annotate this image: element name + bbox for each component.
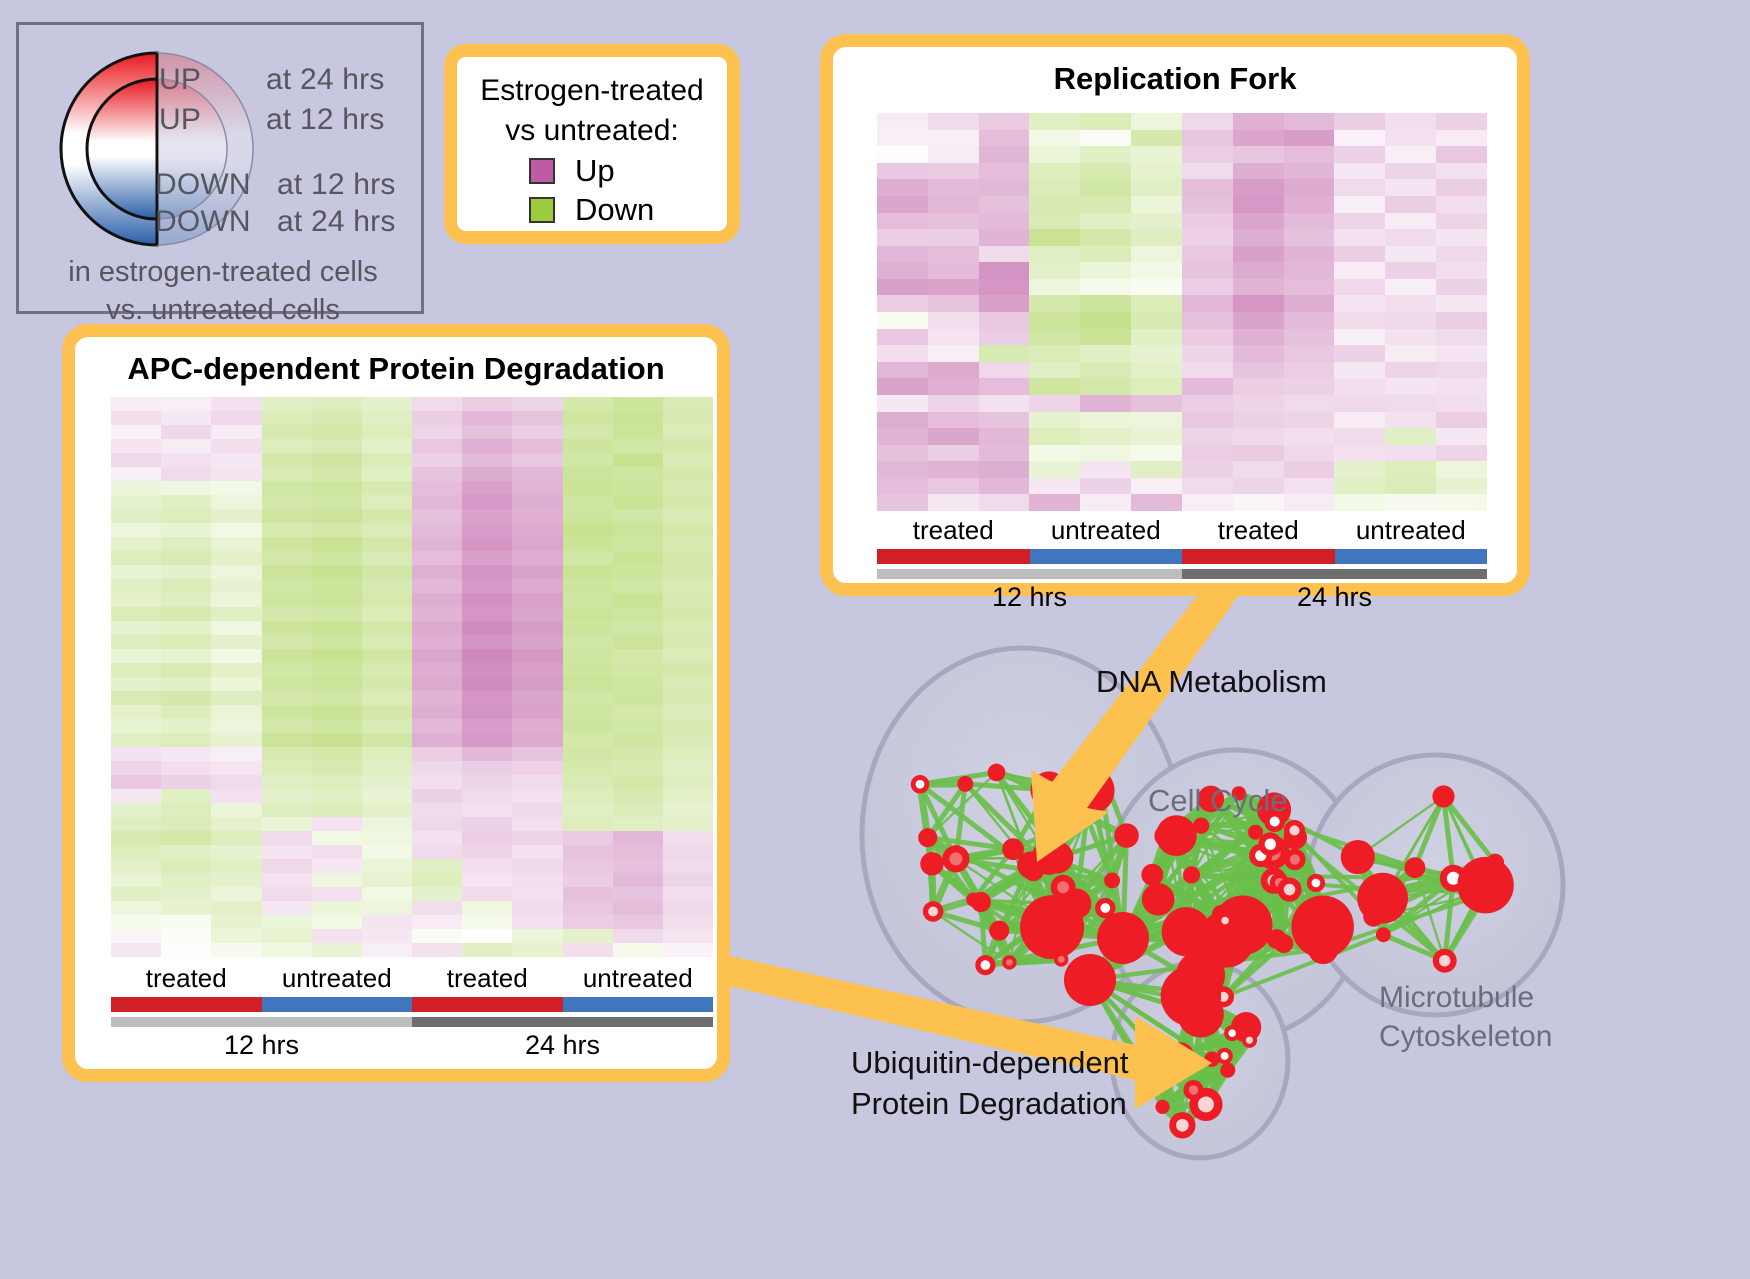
heatmap-cell: [979, 461, 1030, 478]
heatmap-cell: [211, 859, 261, 873]
heatmap-cell: [211, 929, 261, 943]
heatmap-cell: [512, 705, 562, 719]
heatmap-cell: [1182, 229, 1233, 246]
heatmap-cell: [412, 803, 462, 817]
network-node-core: [1176, 1119, 1189, 1132]
heatmap-cell: [412, 411, 462, 425]
heatmap-cell: [312, 649, 362, 663]
heatmap-cell: [1182, 146, 1233, 163]
cluster-label-microtubule-line1: Microtubule: [1379, 978, 1552, 1017]
network-node[interactable]: [1457, 857, 1514, 914]
heatmap-cell: [111, 761, 161, 775]
heatmap-cell: [563, 845, 613, 859]
heatmap-cell: [1284, 412, 1335, 429]
heatmap-cell: [111, 817, 161, 831]
heatmap-cell: [111, 705, 161, 719]
heatmap-cell: [1182, 279, 1233, 296]
network-node-core: [1312, 879, 1321, 888]
heatmap-cell: [161, 425, 211, 439]
heatmap-cell: [877, 412, 928, 429]
heatmap-cell: [111, 621, 161, 635]
heatmap-cell: [1385, 494, 1436, 511]
heatmap-cell: [512, 817, 562, 831]
heatmap-cell: [1131, 146, 1182, 163]
heatmap-cell: [1029, 229, 1080, 246]
heatmap-cell: [211, 845, 261, 859]
heatmap-cell: [1182, 395, 1233, 412]
heatmap-cell: [462, 565, 512, 579]
heatmap-cell: [1284, 196, 1335, 213]
heatmap-cell: [161, 495, 211, 509]
heatmap-cell: [1080, 428, 1131, 445]
heatmap-cell: [211, 943, 261, 957]
heatmap-cell: [362, 635, 412, 649]
heatmap-cell: [1334, 329, 1385, 346]
heatmap-cell: [1182, 494, 1233, 511]
heatmap-cell: [1029, 279, 1080, 296]
heatmap-cell: [1233, 494, 1284, 511]
heatmap-cell: [1284, 345, 1335, 362]
network-node[interactable]: [1183, 866, 1200, 883]
heatmap-cell: [1029, 312, 1080, 329]
heatmap-cell: [1233, 229, 1284, 246]
heatmap-cell: [111, 551, 161, 565]
heatmap-cell: [161, 915, 211, 929]
heatmap-cell: [1436, 428, 1487, 445]
heatmap-cell: [462, 887, 512, 901]
wheel-label-up-24: UP: [159, 63, 201, 97]
heatmap-cell: [928, 262, 979, 279]
heatmap-cell: [663, 593, 713, 607]
axis-group-label: untreated: [563, 963, 714, 994]
network-node[interactable]: [1153, 1060, 1174, 1081]
network-node[interactable]: [1220, 1063, 1235, 1078]
heatmap-cell: [1385, 163, 1436, 180]
network-node[interactable]: [1357, 873, 1408, 924]
heatmap-cell: [928, 246, 979, 263]
heatmap-cell: [928, 312, 979, 329]
axis-time-label: 12 hrs: [877, 582, 1182, 613]
network-node[interactable]: [1064, 954, 1116, 1006]
heatmap-cell: [161, 831, 211, 845]
heatmap-cell: [312, 523, 362, 537]
heatmap-cell: [1385, 113, 1436, 130]
heatmap-cell: [1334, 179, 1385, 196]
heatmap-cell: [1284, 312, 1335, 329]
axis-group-label: untreated: [1030, 515, 1183, 546]
heatmap-cell: [512, 453, 562, 467]
heatmap-cell: [613, 845, 663, 859]
heatmap-cell: [1334, 229, 1385, 246]
heatmap-cell: [412, 509, 462, 523]
heatmap-cell: [412, 929, 462, 943]
heatmap-cell: [111, 425, 161, 439]
heatmap-cell: [1233, 213, 1284, 230]
heatmap-cell: [1334, 295, 1385, 312]
wheel-label-down-24: DOWN: [155, 205, 251, 239]
heatmap-cell: [161, 537, 211, 551]
heatmap-cell: [1182, 378, 1233, 395]
heatmap-cell: [111, 593, 161, 607]
heatmap-cell: [877, 295, 928, 312]
network-node-core: [916, 780, 925, 789]
heatmap-cell: [663, 733, 713, 747]
heatmap-cell: [412, 439, 462, 453]
heatmap-cell: [928, 494, 979, 511]
heatmap-cell: [312, 691, 362, 705]
heatmap-cell: [877, 312, 928, 329]
heatmap-cell: [362, 691, 412, 705]
network-node[interactable]: [988, 764, 1006, 782]
network-node[interactable]: [1168, 1042, 1194, 1068]
network-node[interactable]: [971, 892, 991, 912]
network-node[interactable]: [1104, 872, 1120, 888]
heatmap-cell: [979, 229, 1030, 246]
heatmap-cell: [1029, 196, 1080, 213]
network-node[interactable]: [1141, 864, 1163, 886]
heatmap-cell: [613, 565, 663, 579]
heatmap-cell: [613, 691, 663, 705]
heatmap-cell: [928, 395, 979, 412]
heatmap-cell: [1131, 478, 1182, 495]
heatmap-cell: [1385, 478, 1436, 495]
heatmap-cell: [462, 439, 512, 453]
heatmap-cell: [312, 495, 362, 509]
heatmap-cell: [111, 901, 161, 915]
network-node[interactable]: [1291, 895, 1354, 958]
heatmap-cell: [161, 761, 211, 775]
network-node[interactable]: [1155, 1100, 1169, 1114]
heatmap-cell: [877, 262, 928, 279]
heatmap-cell: [111, 873, 161, 887]
heatmap-cell: [462, 663, 512, 677]
heatmap-cell: [362, 663, 412, 677]
color-legend-title: Estrogen-treated vs untreated:: [457, 71, 727, 151]
network-node[interactable]: [1236, 1013, 1259, 1036]
heatmap-cell: [1131, 395, 1182, 412]
replication-fork-panel: Replication Fork treateduntreatedtreated…: [820, 34, 1530, 596]
heatmap-cell: [312, 915, 362, 929]
heatmap-cell: [613, 873, 663, 887]
heatmap-cell: [563, 453, 613, 467]
heatmap-cell: [462, 789, 512, 803]
heatmap-cell: [1436, 146, 1487, 163]
network-node-core: [981, 960, 991, 970]
replication-fork-title: Replication Fork: [833, 61, 1517, 97]
heatmap-cell: [211, 467, 261, 481]
network-node[interactable]: [1142, 883, 1175, 916]
heatmap-cell: [211, 831, 261, 845]
network-node[interactable]: [1068, 767, 1115, 814]
color-legend-panel: Estrogen-treated vs untreated: Up Down: [444, 44, 740, 244]
heatmap-cell: [928, 461, 979, 478]
network-node-core: [1006, 959, 1013, 966]
heatmap-cell: [412, 705, 462, 719]
heatmap-cell: [161, 397, 211, 411]
heatmap-cell: [512, 901, 562, 915]
heatmap-cell: [1182, 246, 1233, 263]
heatmap-cell: [563, 411, 613, 425]
heatmap-cell: [161, 663, 211, 677]
heatmap-cell: [512, 425, 562, 439]
heatmap-cell: [663, 635, 713, 649]
heatmap-cell: [161, 943, 211, 957]
heatmap-cell: [211, 887, 261, 901]
network-node[interactable]: [1193, 818, 1209, 834]
heatmap-cell: [1334, 362, 1385, 379]
heatmap-cell: [1436, 445, 1487, 462]
color-legend-title-line1: Estrogen-treated: [457, 71, 727, 111]
heatmap-cell: [1436, 196, 1487, 213]
heatmap-cell: [1080, 312, 1131, 329]
heatmap-cell: [462, 859, 512, 873]
heatmap-cell: [362, 411, 412, 425]
heatmap-cell: [412, 663, 462, 677]
heatmap-cell: [111, 439, 161, 453]
heatmap-cell: [1436, 130, 1487, 147]
heatmap-cell: [262, 705, 312, 719]
heatmap-cell: [1284, 246, 1335, 263]
heatmap-cell: [1233, 295, 1284, 312]
heatmap-cell: [161, 929, 211, 943]
heatmap-cell: [462, 845, 512, 859]
heatmap-cell: [262, 803, 312, 817]
heatmap-cell: [563, 439, 613, 453]
heatmap-cell: [1131, 412, 1182, 429]
network-node[interactable]: [920, 852, 943, 875]
heatmap-cell: [1436, 362, 1487, 379]
axis-time-bar: [1182, 569, 1487, 579]
heatmap-cell: [663, 943, 713, 957]
heatmap-cell: [262, 859, 312, 873]
heatmap-cell: [877, 229, 928, 246]
heatmap-cell: [312, 929, 362, 943]
heatmap-cell: [1080, 362, 1131, 379]
legend-item-up-label: Up: [575, 154, 615, 188]
heatmap-cell: [613, 887, 663, 901]
heatmap-cell: [563, 649, 613, 663]
heatmap-cell: [211, 691, 261, 705]
heatmap-cell: [512, 803, 562, 817]
heatmap-cell: [362, 747, 412, 761]
heatmap-cell: [1080, 113, 1131, 130]
heatmap-cell: [412, 943, 462, 957]
heatmap-cell: [362, 873, 412, 887]
heatmap-cell: [111, 579, 161, 593]
heatmap-cell: [1080, 445, 1131, 462]
heatmap-cell: [462, 649, 512, 663]
heatmap-cell: [312, 621, 362, 635]
heatmap-cell: [262, 943, 312, 957]
heatmap-cell: [262, 425, 312, 439]
heatmap-cell: [663, 467, 713, 481]
heatmap-cell: [663, 509, 713, 523]
heatmap-cell: [512, 537, 562, 551]
axis-time-label: 24 hrs: [1182, 582, 1487, 613]
heatmap-cell: [1080, 461, 1131, 478]
heatmap-cell: [1131, 428, 1182, 445]
heatmap-cell: [928, 295, 979, 312]
axis-time-bar: [412, 1017, 713, 1027]
heatmap-cell: [613, 495, 663, 509]
heatmap-cell: [928, 329, 979, 346]
cluster-label-cell-cycle: Cell Cycle: [1148, 783, 1288, 819]
heatmap-cell: [1233, 345, 1284, 362]
heatmap-cell: [979, 196, 1030, 213]
heatmap-cell: [462, 635, 512, 649]
heatmap-cell: [362, 621, 412, 635]
heatmap-cell: [111, 733, 161, 747]
heatmap-cell: [111, 803, 161, 817]
heatmap-cell: [512, 915, 562, 929]
network-node-core: [1189, 1085, 1199, 1095]
heatmap-cell: [563, 747, 613, 761]
heatmap-cell: [663, 859, 713, 873]
heatmap-cell: [161, 481, 211, 495]
heatmap-cell: [462, 901, 512, 915]
heatmap-cell: [1385, 312, 1436, 329]
heatmap-cell: [663, 551, 713, 565]
heatmap-cell: [1436, 262, 1487, 279]
network-node-core: [1265, 839, 1276, 850]
heatmap-cell: [928, 428, 979, 445]
heatmap-cell: [928, 229, 979, 246]
heatmap-cell: [412, 845, 462, 859]
heatmap-cell: [613, 915, 663, 929]
heatmap-cell: [161, 649, 211, 663]
heatmap-cell: [1182, 196, 1233, 213]
heatmap-cell: [462, 593, 512, 607]
heatmap-cell: [312, 565, 362, 579]
heatmap-cell: [563, 509, 613, 523]
heatmap-cell: [928, 445, 979, 462]
heatmap-cell: [1182, 412, 1233, 429]
heatmap-cell: [412, 397, 462, 411]
heatmap-cell: [1233, 146, 1284, 163]
apc-degradation-panel: APC-dependent Protein Degradation treate…: [62, 324, 730, 1082]
network-node-core: [1100, 903, 1110, 913]
heatmap-cell: [312, 551, 362, 565]
heatmap-cell: [1182, 262, 1233, 279]
heatmap-cell: [362, 803, 412, 817]
heatmap-cell: [512, 467, 562, 481]
heatmap-cell: [211, 663, 261, 677]
heatmap-cell: [663, 817, 713, 831]
heatmap-cell: [211, 593, 261, 607]
heatmap-cell: [211, 579, 261, 593]
heatmap-cell: [663, 719, 713, 733]
network-node[interactable]: [1161, 966, 1221, 1026]
heatmap-cell: [412, 495, 462, 509]
heatmap-cell: [462, 411, 512, 425]
heatmap-cell: [1233, 378, 1284, 395]
heatmap-cell: [928, 146, 979, 163]
heatmap-cell: [663, 439, 713, 453]
heatmap-cell: [362, 453, 412, 467]
heatmap-cell: [111, 943, 161, 957]
network-node[interactable]: [1220, 936, 1235, 951]
heatmap-cell: [1182, 295, 1233, 312]
axis-time-bar: [877, 569, 1182, 579]
heatmap-cell: [161, 635, 211, 649]
heatmap-cell: [412, 537, 462, 551]
network-node[interactable]: [1376, 927, 1391, 942]
heatmap-cell: [1182, 445, 1233, 462]
heatmap-cell: [512, 523, 562, 537]
heatmap-cell: [1131, 130, 1182, 147]
apc-degradation-axis: treateduntreatedtreateduntreated 12 hrs2…: [111, 963, 713, 1061]
heatmap-cell: [512, 439, 562, 453]
apc-degradation-time-labels: 12 hrs24 hrs: [111, 1030, 713, 1061]
heatmap-cell: [613, 607, 663, 621]
heatmap-cell: [211, 425, 261, 439]
heatmap-cell: [563, 691, 613, 705]
heatmap-cell: [1182, 312, 1233, 329]
heatmap-cell: [512, 845, 562, 859]
heatmap-cell: [1182, 113, 1233, 130]
heatmap-cell: [1284, 494, 1335, 511]
heatmap-cell: [1233, 179, 1284, 196]
heatmap-cell: [1029, 130, 1080, 147]
heatmap-cell: [563, 397, 613, 411]
heatmap-cell: [563, 733, 613, 747]
heatmap-cell: [362, 705, 412, 719]
heatmap-cell: [1182, 461, 1233, 478]
heatmap-cell: [928, 478, 979, 495]
heatmap-cell: [1233, 395, 1284, 412]
heatmap-cell: [1131, 362, 1182, 379]
heatmap-cell: [211, 719, 261, 733]
heatmap-cell: [1334, 262, 1385, 279]
heatmap-cell: [211, 761, 261, 775]
heatmap-cell: [563, 831, 613, 845]
down-swatch-icon: [529, 197, 555, 223]
heatmap-cell: [262, 901, 312, 915]
network-node[interactable]: [1097, 912, 1149, 964]
network-node[interactable]: [1162, 907, 1211, 956]
heatmap-cell: [462, 537, 512, 551]
heatmap-cell: [563, 551, 613, 565]
heatmap-cell: [161, 705, 211, 719]
heatmap-cell: [1233, 428, 1284, 445]
heatmap-cell: [312, 397, 362, 411]
heatmap-cell: [613, 481, 663, 495]
heatmap-cell: [312, 411, 362, 425]
network-node[interactable]: [1274, 934, 1293, 953]
network-node-core: [923, 833, 932, 842]
heatmap-cell: [512, 481, 562, 495]
network-node[interactable]: [1061, 888, 1092, 919]
heatmap-cell: [1334, 412, 1385, 429]
heatmap-cell: [362, 425, 412, 439]
heatmap-cell: [512, 761, 562, 775]
heatmap-cell: [211, 775, 261, 789]
heatmap-cell: [563, 719, 613, 733]
heatmap-cell: [512, 733, 562, 747]
heatmap-cell: [1080, 395, 1131, 412]
network-node-core: [1252, 829, 1259, 836]
heatmap-cell: [312, 635, 362, 649]
network-node[interactable]: [1432, 785, 1454, 807]
heatmap-cell: [979, 378, 1030, 395]
axis-group-bar: [1030, 549, 1183, 564]
heatmap-cell: [462, 873, 512, 887]
heatmap-cell: [362, 467, 412, 481]
heatmap-cell: [362, 579, 412, 593]
heatmap-cell: [1029, 345, 1080, 362]
heatmap-cell: [362, 789, 412, 803]
heatmap-cell: [613, 663, 663, 677]
